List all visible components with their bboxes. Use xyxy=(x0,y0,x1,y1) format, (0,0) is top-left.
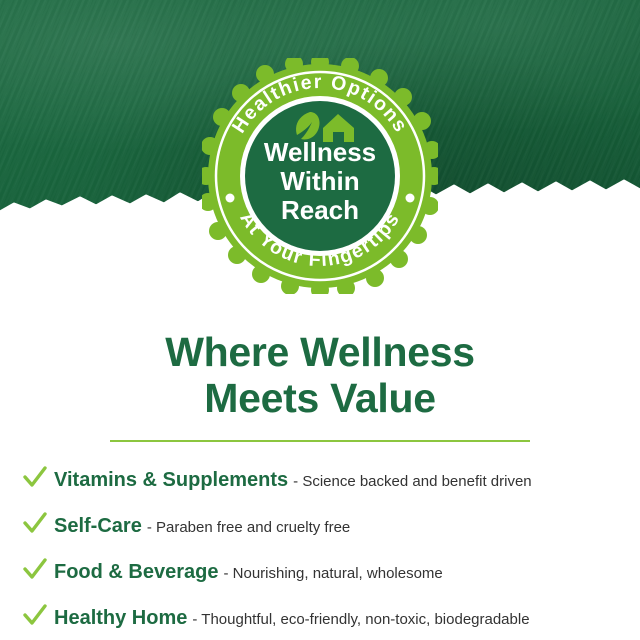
list-item-title: Healthy Home xyxy=(54,607,187,630)
check-icon xyxy=(22,556,48,582)
list-item-description-text: Thoughtful, eco-friendly, non-toxic, bio… xyxy=(201,611,529,628)
list-item-description: - Nourishing, natural, wholesome xyxy=(223,565,442,582)
promo-poster: Healthier Options At Your Fingertips Wel… xyxy=(0,0,640,640)
list-item-title: Self-Care xyxy=(54,515,142,538)
check-icon xyxy=(22,602,48,628)
list-item-separator: - xyxy=(293,473,298,490)
list-item-description: - Science backed and benefit driven xyxy=(293,473,532,490)
badge-dot-left xyxy=(226,194,235,203)
list-item-separator: - xyxy=(192,611,197,628)
list-item: Healthy Home - Thoughtful, eco-friendly,… xyxy=(20,598,624,630)
page-title-line1: Where Wellness xyxy=(0,330,640,376)
list-item: Vitamins & Supplements - Science backed … xyxy=(20,460,624,492)
list-item-title: Food & Beverage xyxy=(54,561,218,584)
badge-center-line1: Wellness xyxy=(264,137,376,167)
page-title: Where Wellness Meets Value xyxy=(0,330,640,422)
list-item-title: Vitamins & Supplements xyxy=(54,469,288,492)
list-item: Self-Care - Paraben free and cruelty fre… xyxy=(20,506,624,538)
list-item-description-text: Paraben free and cruelty free xyxy=(156,519,350,536)
check-icon xyxy=(22,510,48,536)
list-item-description-text: Science backed and benefit driven xyxy=(302,473,531,490)
check-icon xyxy=(22,464,48,490)
benefits-list: Vitamins & Supplements - Science backed … xyxy=(20,460,624,640)
wellness-badge: Healthier Options At Your Fingertips Wel… xyxy=(202,58,438,294)
list-item-description: - Paraben free and cruelty free xyxy=(147,519,350,536)
list-item-separator: - xyxy=(147,519,152,536)
page-title-line2: Meets Value xyxy=(0,376,640,422)
list-item: Food & Beverage - Nourishing, natural, w… xyxy=(20,552,624,584)
list-item-description: - Thoughtful, eco-friendly, non-toxic, b… xyxy=(192,611,529,628)
list-item-description-text: Nourishing, natural, wholesome xyxy=(233,565,443,582)
list-item-separator: - xyxy=(223,565,228,582)
badge-dot-right xyxy=(406,194,415,203)
divider-rule xyxy=(110,440,530,442)
badge-center-line2: Within xyxy=(280,166,359,196)
badge-center-line3: Reach xyxy=(281,195,359,225)
